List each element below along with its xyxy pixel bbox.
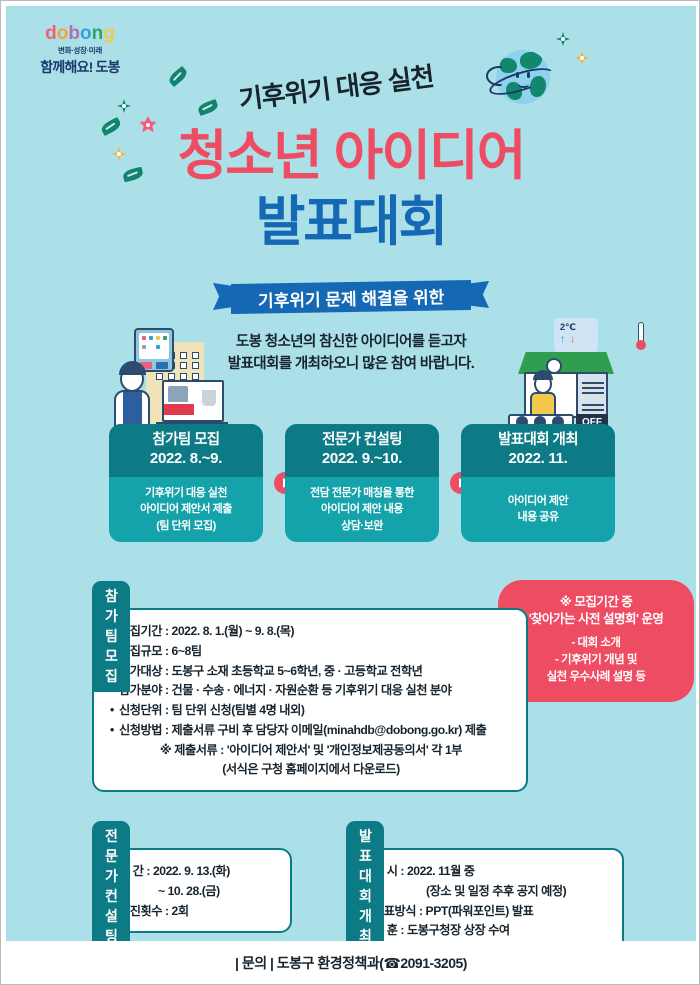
logo-subtitle: 변화·성장·미래 (30, 45, 130, 56)
flower-decoration-icon (575, 51, 589, 65)
process-card-2: 전문가 컨설팅 2022. 9.~10. 전담 전문가 매칭을 통한 아이디어 … (285, 424, 439, 542)
recruit-box-body: • 모집기간 : 2022. 8. 1.(월) ~ 9. 8.(목) • 모집규… (92, 608, 528, 792)
logo-letter: n (92, 23, 104, 44)
list-item-text: 발표방식 : PPT(파워포인트) 발표 (373, 902, 608, 922)
recruit-note-line-1: ※ 제출서류 : '아이디어 제안서' 및 '개인정보제공동의서' 각 1부 (110, 741, 512, 761)
list-item-text: 신청방법 : 제출서류 구비 후 담당자 이메일(minahdb@dobong.… (119, 721, 512, 741)
process-card-1-body-line: 아이디어 제안서 제출 (140, 501, 232, 518)
consulting-box-label: 전문가 컨설팅 (92, 821, 130, 941)
process-card-1: 참가팀 모집 2022. 8.~9. 기후위기 대응 실천 아이디어 제안서 제… (109, 424, 263, 542)
process-card-1-body-line: 기후위기 대응 실천 (140, 485, 232, 502)
list-item-text: 상 훈 : 도봉구청장 상장 수여 (373, 921, 608, 941)
list-item: • 추진횟수 : 2회 (110, 902, 276, 922)
process-card-2-body-line: 아이디어 제안 내용 (310, 501, 414, 518)
footer-contact-text: | 문의 | 도봉구 환경정책과(☎2091-3205) (235, 953, 467, 973)
list-item-text: (장소 및 일정 추후 공지 예정) (426, 882, 608, 902)
logo-slogan: 함께해요! 도봉 (30, 57, 130, 77)
earth-hug-icon (488, 46, 554, 112)
list-item: • 신청단위 : 팀 단위 신청(팀별 4명 내외) (110, 701, 512, 721)
ribbon-banner: 기후위기 문제 해결을 위한 (213, 278, 489, 318)
process-card-3-body: 아이디어 제안 내용 공유 (461, 477, 615, 542)
process-card-3-body-line: 내용 공유 (508, 509, 568, 526)
process-card-2-title: 전문가 컨설팅 (285, 432, 439, 450)
logo-letter: g (103, 23, 115, 44)
thermometer-value: 2℃ (560, 322, 576, 333)
list-item-text: 모집규모 : 6~8팀 (119, 642, 512, 662)
contest-box-label: 발표대회 개최 (346, 821, 384, 941)
process-card-3-body-line: 아이디어 제안 (508, 493, 568, 510)
list-item-text: 일 시 : 2022. 11월 중 (373, 862, 608, 882)
process-card-2-body-line: 전담 전문가 매칭을 통한 (310, 485, 414, 502)
bubble-line-5: 실천 우수사례 설명 등 (547, 669, 646, 686)
bubble-line-4: - 기후위기 개념 및 (547, 652, 646, 669)
list-item: • 모집기간 : 2022. 8. 1.(월) ~ 9. 8.(목) (110, 622, 512, 642)
bubble-line-3: - 대회 소개 (547, 635, 646, 652)
poster: dobong 변화·성장·미래 함께해요! 도봉 기후위기 대응 실천 청소년 … (0, 0, 700, 985)
list-item: • 신청방법 : 제출서류 구비 후 담당자 이메일(minahdb@dobon… (110, 721, 512, 741)
list-item: • 발표방식 : PPT(파워포인트) 발표 (364, 902, 608, 922)
contest-box-body: • 일 시 : 2022. 11월 중 (장소 및 일정 추후 공지 예정) •… (346, 848, 624, 941)
logo-letter: o (80, 23, 92, 44)
process-card-1-body: 기후위기 대응 실천 아이디어 제안서 제출 (팀 단위 모집) (109, 477, 263, 542)
list-item-text: 기 간 : 2022. 9. 13.(화) (119, 862, 276, 882)
process-card-2-header: 전문가 컨설팅 2022. 9.~10. (285, 424, 439, 477)
process-card-2-body: 전담 전문가 매칭을 통한 아이디어 제안 내용 상담·보완 (285, 477, 439, 542)
bullet-icon: • (110, 721, 119, 741)
process-card-1-title: 참가팀 모집 (109, 432, 263, 450)
flower-decoration-icon (117, 99, 131, 113)
ribbon-text: 기후위기 문제 해결을 위한 (258, 283, 445, 312)
process-card-3: 발표대회 개최 2022. 11. 아이디어 제안 내용 공유 (461, 424, 615, 542)
logo-letter: o (57, 23, 69, 44)
process-card-1-date: 2022. 8.~9. (109, 450, 263, 468)
process-card-2-date: 2022. 9.~10. (285, 450, 439, 468)
list-item: • 기 간 : 2022. 9. 13.(화) (110, 862, 276, 882)
dobong-logo: dobong 변화·성장·미래 함께해요! 도봉 (30, 24, 130, 77)
list-item: • 참가분야 : 건물 · 수송 · 에너지 · 자원순환 등 기후위기 대응 … (110, 681, 512, 701)
process-card-3-date: 2022. 11. (461, 450, 615, 468)
kiosk-recycling-illustration (106, 328, 231, 438)
logo-letter: d (45, 23, 57, 44)
bullet-icon: • (110, 701, 119, 721)
process-card-3-header: 발표대회 개최 2022. 11. (461, 424, 615, 477)
process-card-1-header: 참가팀 모집 2022. 8.~9. (109, 424, 263, 477)
process-cards: 참가팀 모집 2022. 8.~9. 기후위기 대응 실천 아이디어 제안서 제… (6, 424, 696, 542)
footer: | 문의 | 도봉구 환경정책과(☎2091-3205) (6, 941, 696, 985)
headline-line2: 발표대회 (6, 195, 696, 249)
logo-wordmark: dobong (30, 24, 130, 43)
energy-saving-house-illustration: 2℃ ↑ ↓ OFF (504, 318, 632, 436)
flower-decoration-icon (556, 32, 570, 46)
list-item-text: 모집기간 : 2022. 8. 1.(월) ~ 9. 8.(목) (119, 622, 512, 642)
process-card-1-body-line: (팀 단위 모집) (140, 518, 232, 535)
leaf-decoration-icon (197, 99, 220, 116)
recruit-note-line-2: (서식은 구청 홈페이지에서 다운로드) (110, 760, 512, 780)
thermometer-badge: 2℃ ↑ ↓ (554, 318, 598, 352)
list-item-text: 신청단위 : 팀 단위 신청(팀별 4명 내외) (119, 701, 512, 721)
list-item-text: 참가분야 : 건물 · 수송 · 에너지 · 자원순환 등 기후위기 대응 실천… (119, 681, 512, 701)
leaf-decoration-icon (167, 66, 189, 87)
process-card-3-title: 발표대회 개최 (461, 432, 615, 450)
recruit-box-label: 참가팀 모집 (92, 581, 130, 692)
headline-line1: 청소년 아이디어 (6, 129, 696, 183)
poster-canvas: dobong 변화·성장·미래 함께해요! 도봉 기후위기 대응 실천 청소년 … (6, 6, 696, 941)
process-card-2-body-line: 상담·보완 (310, 518, 414, 535)
list-item-text: 추진횟수 : 2회 (119, 902, 276, 922)
list-item-text: 참가대상 : 도봉구 소재 초등학교 5~6학년, 중 · 고등학교 전학년 (119, 662, 512, 682)
list-item: • 일 시 : 2022. 11월 중 (364, 862, 608, 882)
list-item-text: ~ 10. 28.(금) (158, 882, 276, 902)
list-item: • 상 훈 : 도봉구청장 상장 수여 (364, 921, 608, 941)
bubble-line-2: '찾아가는 사전 설명회' 운영 (529, 611, 664, 629)
headline-kicker: 기후위기 대응 실천 (236, 56, 435, 117)
logo-letter: b (68, 23, 80, 44)
list-item: • 참가대상 : 도봉구 소재 초등학교 5~6학년, 중 · 고등학교 전학년 (110, 662, 512, 682)
list-item: ~ 10. 28.(금) (110, 882, 276, 902)
bubble-line-1: ※ 모집기간 중 (529, 594, 664, 612)
list-item: (장소 및 일정 추후 공지 예정) (364, 882, 608, 902)
list-item: • 모집규모 : 6~8팀 (110, 642, 512, 662)
